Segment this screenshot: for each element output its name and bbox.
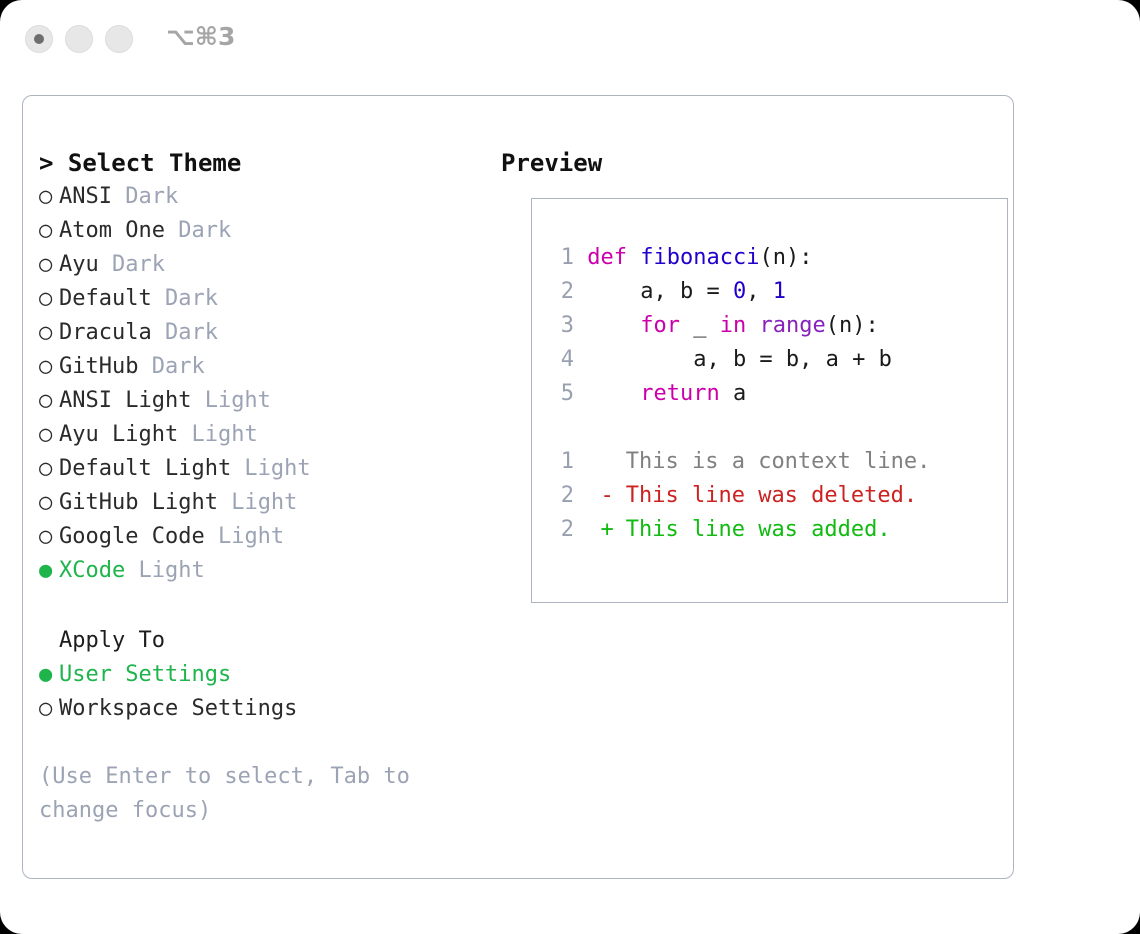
preview-box: 1 def fibonacci(n):2 a, b = 0, 13 for _ … <box>531 198 1008 603</box>
keyboard-shortcut-label: ⌥⌘3 <box>166 22 235 51</box>
traffic-light-dot-second[interactable] <box>65 25 93 53</box>
theme-list-item[interactable]: ●XCode Light <box>39 554 479 588</box>
code-sample: 1 def fibonacci(n):2 a, b = 0, 13 for _ … <box>552 241 992 411</box>
keyboard-hint-text: (Use Enter to select, Tab to change focu… <box>39 760 439 828</box>
radio-unselected-icon: ○ <box>39 316 59 350</box>
gutter-space <box>574 245 587 270</box>
theme-kind-badge: Light <box>178 422 257 447</box>
theme-kind-badge: Light <box>191 388 270 413</box>
gutter-space <box>574 381 587 406</box>
select-theme-heading: > Select Theme <box>39 146 479 180</box>
theme-kind-badge: Light <box>218 490 297 515</box>
code-line: 2 a, b = 0, 1 <box>552 275 992 309</box>
theme-picker-panel: > Select Theme ○ANSI Dark○Atom One Dark○… <box>22 95 1014 879</box>
theme-name: Dracula <box>59 320 152 345</box>
theme-selection-column: > Select Theme ○ANSI Dark○Atom One Dark○… <box>39 146 479 828</box>
radio-unselected-icon: ○ <box>39 418 59 452</box>
radio-unselected-icon: ○ <box>39 282 59 316</box>
theme-kind-badge: Light <box>125 558 204 583</box>
code-token: , <box>746 279 773 304</box>
line-number: 1 <box>552 241 574 275</box>
theme-kind-badge: Dark <box>99 252 165 277</box>
theme-kind-badge: Light <box>205 524 284 549</box>
diff-marker: + <box>601 513 613 547</box>
code-token: range <box>759 313 825 338</box>
code-token <box>587 381 640 406</box>
gutter-space <box>574 279 587 304</box>
gutter-space <box>574 347 587 372</box>
spacer <box>39 588 479 624</box>
spacer <box>552 411 992 445</box>
diff-text: This line was added. <box>613 517 891 542</box>
theme-list-item[interactable]: ○Ayu Dark <box>39 248 479 282</box>
theme-list-item[interactable]: ○GitHub Light Light <box>39 486 479 520</box>
apply-to-option[interactable]: ○Workspace Settings <box>39 692 479 726</box>
apply-to-label: User Settings <box>59 662 231 687</box>
gutter-space <box>574 449 601 474</box>
theme-name: Ayu Light <box>59 422 178 447</box>
theme-list-item[interactable]: ○Google Code Light <box>39 520 479 554</box>
apply-to-option[interactable]: ●User Settings <box>39 658 479 692</box>
radio-unselected-icon: ○ <box>39 452 59 486</box>
theme-name: Ayu <box>59 252 99 277</box>
radio-unselected-icon: ○ <box>39 486 59 520</box>
theme-list-item[interactable]: ○Default Light Light <box>39 452 479 486</box>
preview-heading: Preview <box>501 146 1001 180</box>
line-number: 2 <box>552 275 574 309</box>
theme-list-item[interactable]: ○ANSI Light Light <box>39 384 479 418</box>
code-token: _ <box>680 313 720 338</box>
diff-text: This line was deleted. <box>613 483 918 508</box>
radio-unselected-icon: ○ <box>39 520 59 554</box>
line-number: 3 <box>552 309 574 343</box>
apply-to-heading: Apply To <box>39 624 479 658</box>
theme-name: ANSI <box>59 184 112 209</box>
apply-to-label: Workspace Settings <box>59 696 297 721</box>
preview-column: Preview 1 def fibonacci(n):2 a, b = 0, 1… <box>501 146 1001 180</box>
line-number: 1 <box>552 445 574 479</box>
traffic-light-dot-third[interactable] <box>105 25 133 53</box>
line-number: 5 <box>552 377 574 411</box>
theme-name: Default Light <box>59 456 231 481</box>
theme-list[interactable]: ○ANSI Dark○Atom One Dark○Ayu Dark○Defaul… <box>39 180 479 588</box>
gutter-space <box>574 483 601 508</box>
theme-list-item[interactable]: ○GitHub Dark <box>39 350 479 384</box>
code-token: a <box>720 381 747 406</box>
diff-line: 1 This is a context line. <box>552 445 992 479</box>
theme-name: GitHub Light <box>59 490 218 515</box>
theme-name: XCode <box>59 558 125 583</box>
code-line: 5 return a <box>552 377 992 411</box>
code-token: a, b = b, a + b <box>587 347 892 372</box>
theme-list-item[interactable]: ○Default Dark <box>39 282 479 316</box>
code-token <box>746 313 759 338</box>
radio-selected-icon: ● <box>39 658 59 692</box>
radio-unselected-icon: ○ <box>39 180 59 214</box>
theme-list-item[interactable]: ○Ayu Light Light <box>39 418 479 452</box>
code-token: 0 <box>733 279 746 304</box>
line-number: 2 <box>552 479 574 513</box>
apply-to-list[interactable]: ●User Settings○Workspace Settings <box>39 658 479 726</box>
code-token <box>587 313 640 338</box>
theme-name: Default <box>59 286 152 311</box>
diff-line: 2 - This line was deleted. <box>552 479 992 513</box>
theme-list-item[interactable]: ○Atom One Dark <box>39 214 479 248</box>
code-token: 1 <box>773 279 786 304</box>
traffic-light-dot-active[interactable] <box>25 25 53 53</box>
code-token: (n): <box>759 245 812 270</box>
code-token: for <box>640 313 680 338</box>
code-token: fibonacci <box>640 245 759 270</box>
radio-unselected-icon: ○ <box>39 692 59 726</box>
theme-kind-badge: Dark <box>112 184 178 209</box>
diff-text: This is a context line. <box>613 449 931 474</box>
diff-marker <box>601 445 613 479</box>
theme-kind-badge: Light <box>231 456 310 481</box>
code-line: 3 for _ in range(n): <box>552 309 992 343</box>
diff-line: 2 + This line was added. <box>552 513 992 547</box>
code-token: a, b = <box>587 279 733 304</box>
record-dot-icon <box>34 34 44 44</box>
code-token: (n): <box>826 313 879 338</box>
theme-name: GitHub <box>59 354 138 379</box>
code-token <box>627 245 640 270</box>
app-window: ⌥⌘3 > Select Theme ○ANSI Dark○Atom One D… <box>0 0 1140 934</box>
radio-unselected-icon: ○ <box>39 384 59 418</box>
theme-kind-badge: Dark <box>165 218 231 243</box>
theme-list-item[interactable]: ○ANSI Dark <box>39 180 479 214</box>
theme-kind-badge: Dark <box>152 286 218 311</box>
code-token: return <box>640 381 719 406</box>
title-bar: ⌥⌘3 <box>0 0 1140 78</box>
theme-name: Google Code <box>59 524 205 549</box>
line-number: 4 <box>552 343 574 377</box>
theme-list-item[interactable]: ○Dracula Dark <box>39 316 479 350</box>
code-line: 4 a, b = b, a + b <box>552 343 992 377</box>
code-preview-area: 1 def fibonacci(n):2 a, b = 0, 13 for _ … <box>552 241 992 547</box>
code-token: def <box>587 245 627 270</box>
theme-kind-badge: Dark <box>152 320 218 345</box>
line-number: 2 <box>552 513 574 547</box>
gutter-space <box>574 313 587 338</box>
theme-name: ANSI Light <box>59 388 191 413</box>
theme-kind-badge: Dark <box>138 354 204 379</box>
diff-sample: 1 This is a context line.2 - This line w… <box>552 445 992 547</box>
code-token: in <box>720 313 747 338</box>
radio-unselected-icon: ○ <box>39 248 59 282</box>
diff-marker: - <box>601 479 613 513</box>
radio-unselected-icon: ○ <box>39 214 59 248</box>
radio-unselected-icon: ○ <box>39 350 59 384</box>
code-line: 1 def fibonacci(n): <box>552 241 992 275</box>
theme-name: Atom One <box>59 218 165 243</box>
gutter-space <box>574 517 601 542</box>
radio-selected-icon: ● <box>39 554 59 588</box>
